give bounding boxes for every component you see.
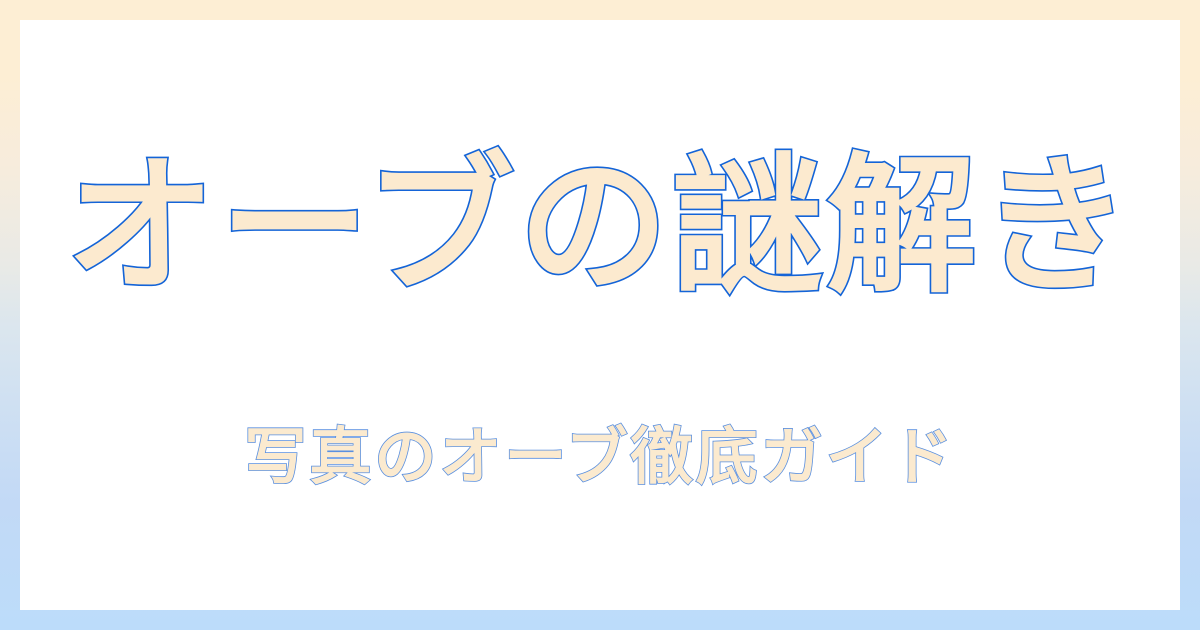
page-subtitle-text: 写真のオーブ徹底ガイド [244,412,955,502]
cover-frame: オーブの謎解き 写真のオーブ徹底ガイド [0,0,1200,630]
page-title: オーブの謎解き [20,132,1180,322]
page-subtitle: 写真のオーブ徹底ガイド [20,412,1180,502]
page-title-text: オーブの謎解き [65,132,1134,322]
cover-stage: オーブの謎解き 写真のオーブ徹底ガイド [20,20,1180,610]
